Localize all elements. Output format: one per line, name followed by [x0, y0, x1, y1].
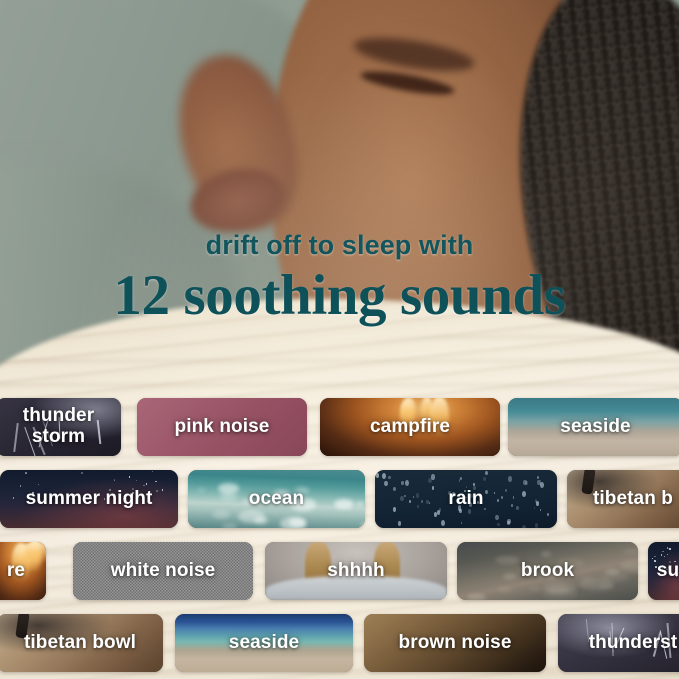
sea-foam-shape: [361, 522, 365, 528]
rain-droplet: [508, 476, 512, 481]
sound-tile-label: thunderst: [579, 633, 679, 654]
star-dot: [669, 548, 671, 550]
rain-droplet: [388, 476, 390, 480]
rain-droplet: [483, 477, 486, 482]
sound-tile-ocean[interactable]: ocean: [188, 470, 365, 528]
rain-droplet: [516, 506, 519, 510]
star-dot: [146, 483, 148, 485]
sea-foam-shape: [218, 483, 239, 494]
rain-droplet: [497, 499, 499, 502]
sound-tile-label: seaside: [219, 633, 309, 654]
rain-droplet: [522, 525, 526, 528]
water-ripple: [497, 587, 512, 592]
sea-foam-shape: [222, 523, 237, 528]
sound-tile-summer-night[interactable]: summer night: [0, 470, 178, 528]
rain-droplet: [507, 521, 510, 525]
star-dot: [38, 484, 40, 486]
rain-droplet: [426, 500, 429, 504]
star-dot: [143, 485, 145, 487]
star-dot: [114, 479, 116, 481]
sound-tile-seaside-daylight[interactable]: seaside: [508, 398, 679, 456]
star-dot: [20, 485, 22, 487]
sound-tile-brown-noise[interactable]: brown noise: [364, 614, 546, 672]
rain-droplet: [505, 489, 507, 491]
rain-droplet: [540, 482, 544, 488]
star-dot: [13, 497, 15, 499]
sound-tile-grid: thunder stormpink noisecampfireseasidesu…: [0, 398, 679, 679]
rain-droplet: [429, 502, 430, 504]
rain-droplet: [511, 504, 513, 507]
rain-droplet: [534, 507, 535, 509]
sea-foam-shape: [198, 488, 206, 492]
rain-droplet: [393, 487, 396, 492]
rain-droplet: [547, 513, 549, 516]
rain-droplet: [413, 496, 415, 498]
star-dot: [662, 551, 664, 553]
rain-droplet: [431, 474, 435, 479]
sound-tile-label: thunder storm: [13, 406, 104, 447]
star-dot: [661, 554, 663, 556]
sound-tile-label: re: [0, 561, 35, 582]
sound-tile-label: ocean: [239, 489, 314, 510]
sea-foam-shape: [356, 502, 364, 506]
rain-droplet: [461, 522, 462, 524]
star-dot: [654, 556, 656, 558]
rain-droplet: [434, 512, 437, 517]
star-dot: [667, 554, 669, 556]
sea-foam-shape: [280, 517, 307, 528]
sound-tile-rain[interactable]: rain: [375, 470, 557, 528]
sound-tile-label: summer night: [16, 489, 163, 510]
rain-droplet: [398, 521, 401, 526]
rain-droplet: [555, 525, 557, 528]
sound-tile-row: thunder stormpink noisecampfireseaside: [0, 398, 679, 456]
sound-tile-label: su: [648, 561, 679, 582]
water-ripple: [620, 561, 638, 573]
sound-tile-label: rain: [438, 489, 493, 510]
sound-tile-label: tibetan b: [583, 489, 679, 510]
star-dot: [152, 471, 154, 473]
star-dot: [664, 556, 666, 558]
rain-droplet: [485, 471, 488, 476]
water-ripple: [541, 552, 551, 555]
rain-droplet: [421, 500, 423, 503]
rain-droplet: [401, 481, 404, 485]
sound-tile-row: tibetan bowlseasidebrown noisethunderst: [0, 614, 679, 672]
star-dot: [25, 472, 27, 474]
rain-droplet: [537, 476, 539, 479]
rain-droplet: [432, 486, 434, 490]
sound-tile-campfire[interactable]: campfire: [320, 398, 500, 456]
sound-tile-tibetan-bowl[interactable]: tibetan bowl: [0, 614, 163, 672]
star-dot: [136, 480, 138, 482]
sleep-sounds-promo: drift off to sleep with 12 soothing soun…: [0, 0, 679, 679]
water-ripple: [605, 569, 619, 574]
rain-droplet: [494, 492, 495, 494]
water-ripple: [467, 594, 486, 600]
rain-droplet: [513, 496, 514, 498]
sound-tile-campfire[interactable]: re: [0, 542, 46, 600]
rain-droplet: [382, 473, 386, 479]
rain-droplet: [536, 501, 540, 506]
star-dot: [129, 476, 131, 478]
sound-tile-row: summer nightoceanraintibetan b: [0, 470, 679, 528]
sound-tile-row: rewhite noiseshhhhbrooksu: [0, 542, 679, 600]
rain-droplet: [400, 496, 403, 501]
sound-tile-thunderstorm-bright[interactable]: thunderst: [558, 614, 679, 672]
water-ripple: [623, 549, 638, 555]
water-ripple: [542, 588, 577, 600]
sound-tile-summer-night[interactable]: su: [648, 542, 679, 600]
rain-droplet: [441, 520, 445, 526]
sound-tile-thunderstorm[interactable]: thunder storm: [0, 398, 121, 456]
rain-droplet: [437, 510, 440, 515]
rain-droplet: [525, 481, 528, 485]
sound-tile-pink-noise[interactable]: pink noise: [137, 398, 307, 456]
rain-droplet: [501, 496, 503, 499]
sound-tile-label: campfire: [360, 417, 460, 438]
rain-droplet: [460, 477, 462, 480]
sound-tile-label: tibetan bowl: [14, 633, 146, 654]
star-dot: [155, 481, 157, 483]
rain-droplet: [393, 507, 396, 511]
sea-foam-shape: [212, 510, 230, 519]
sound-tile-brook[interactable]: brook: [457, 542, 638, 600]
star-dot: [81, 472, 83, 474]
water-ripple: [529, 587, 542, 592]
rain-droplet: [404, 495, 405, 497]
sound-tile-label: brown noise: [389, 633, 522, 654]
star-dot: [652, 558, 654, 560]
sound-tile-tibetan-bowl[interactable]: tibetan b: [567, 470, 679, 528]
rain-droplet: [540, 509, 541, 511]
sound-tile-label: shhhh: [317, 561, 395, 582]
rain-droplet: [495, 515, 498, 520]
rain-droplet: [405, 480, 409, 486]
rain-droplet: [376, 473, 379, 478]
rain-droplet: [522, 491, 526, 497]
sound-tile-label: brook: [511, 561, 584, 582]
sound-tile-label: seaside: [550, 417, 640, 438]
rain-droplet: [497, 523, 500, 527]
rain-droplet: [417, 505, 419, 508]
sea-foam-shape: [254, 517, 268, 524]
sound-tile-seaside-night[interactable]: seaside: [175, 614, 353, 672]
sound-tile-shhhh[interactable]: shhhh: [265, 542, 447, 600]
rain-droplet: [468, 509, 472, 514]
sound-tile-label: pink noise: [165, 417, 280, 438]
rain-droplet: [416, 493, 419, 498]
sound-tile-white-noise[interactable]: white noise: [73, 542, 253, 600]
sound-tile-label: white noise: [101, 561, 226, 582]
rain-droplet: [384, 481, 388, 487]
sea-foam-shape: [334, 499, 354, 509]
rain-droplet: [535, 523, 538, 527]
rain-droplet: [409, 500, 411, 503]
